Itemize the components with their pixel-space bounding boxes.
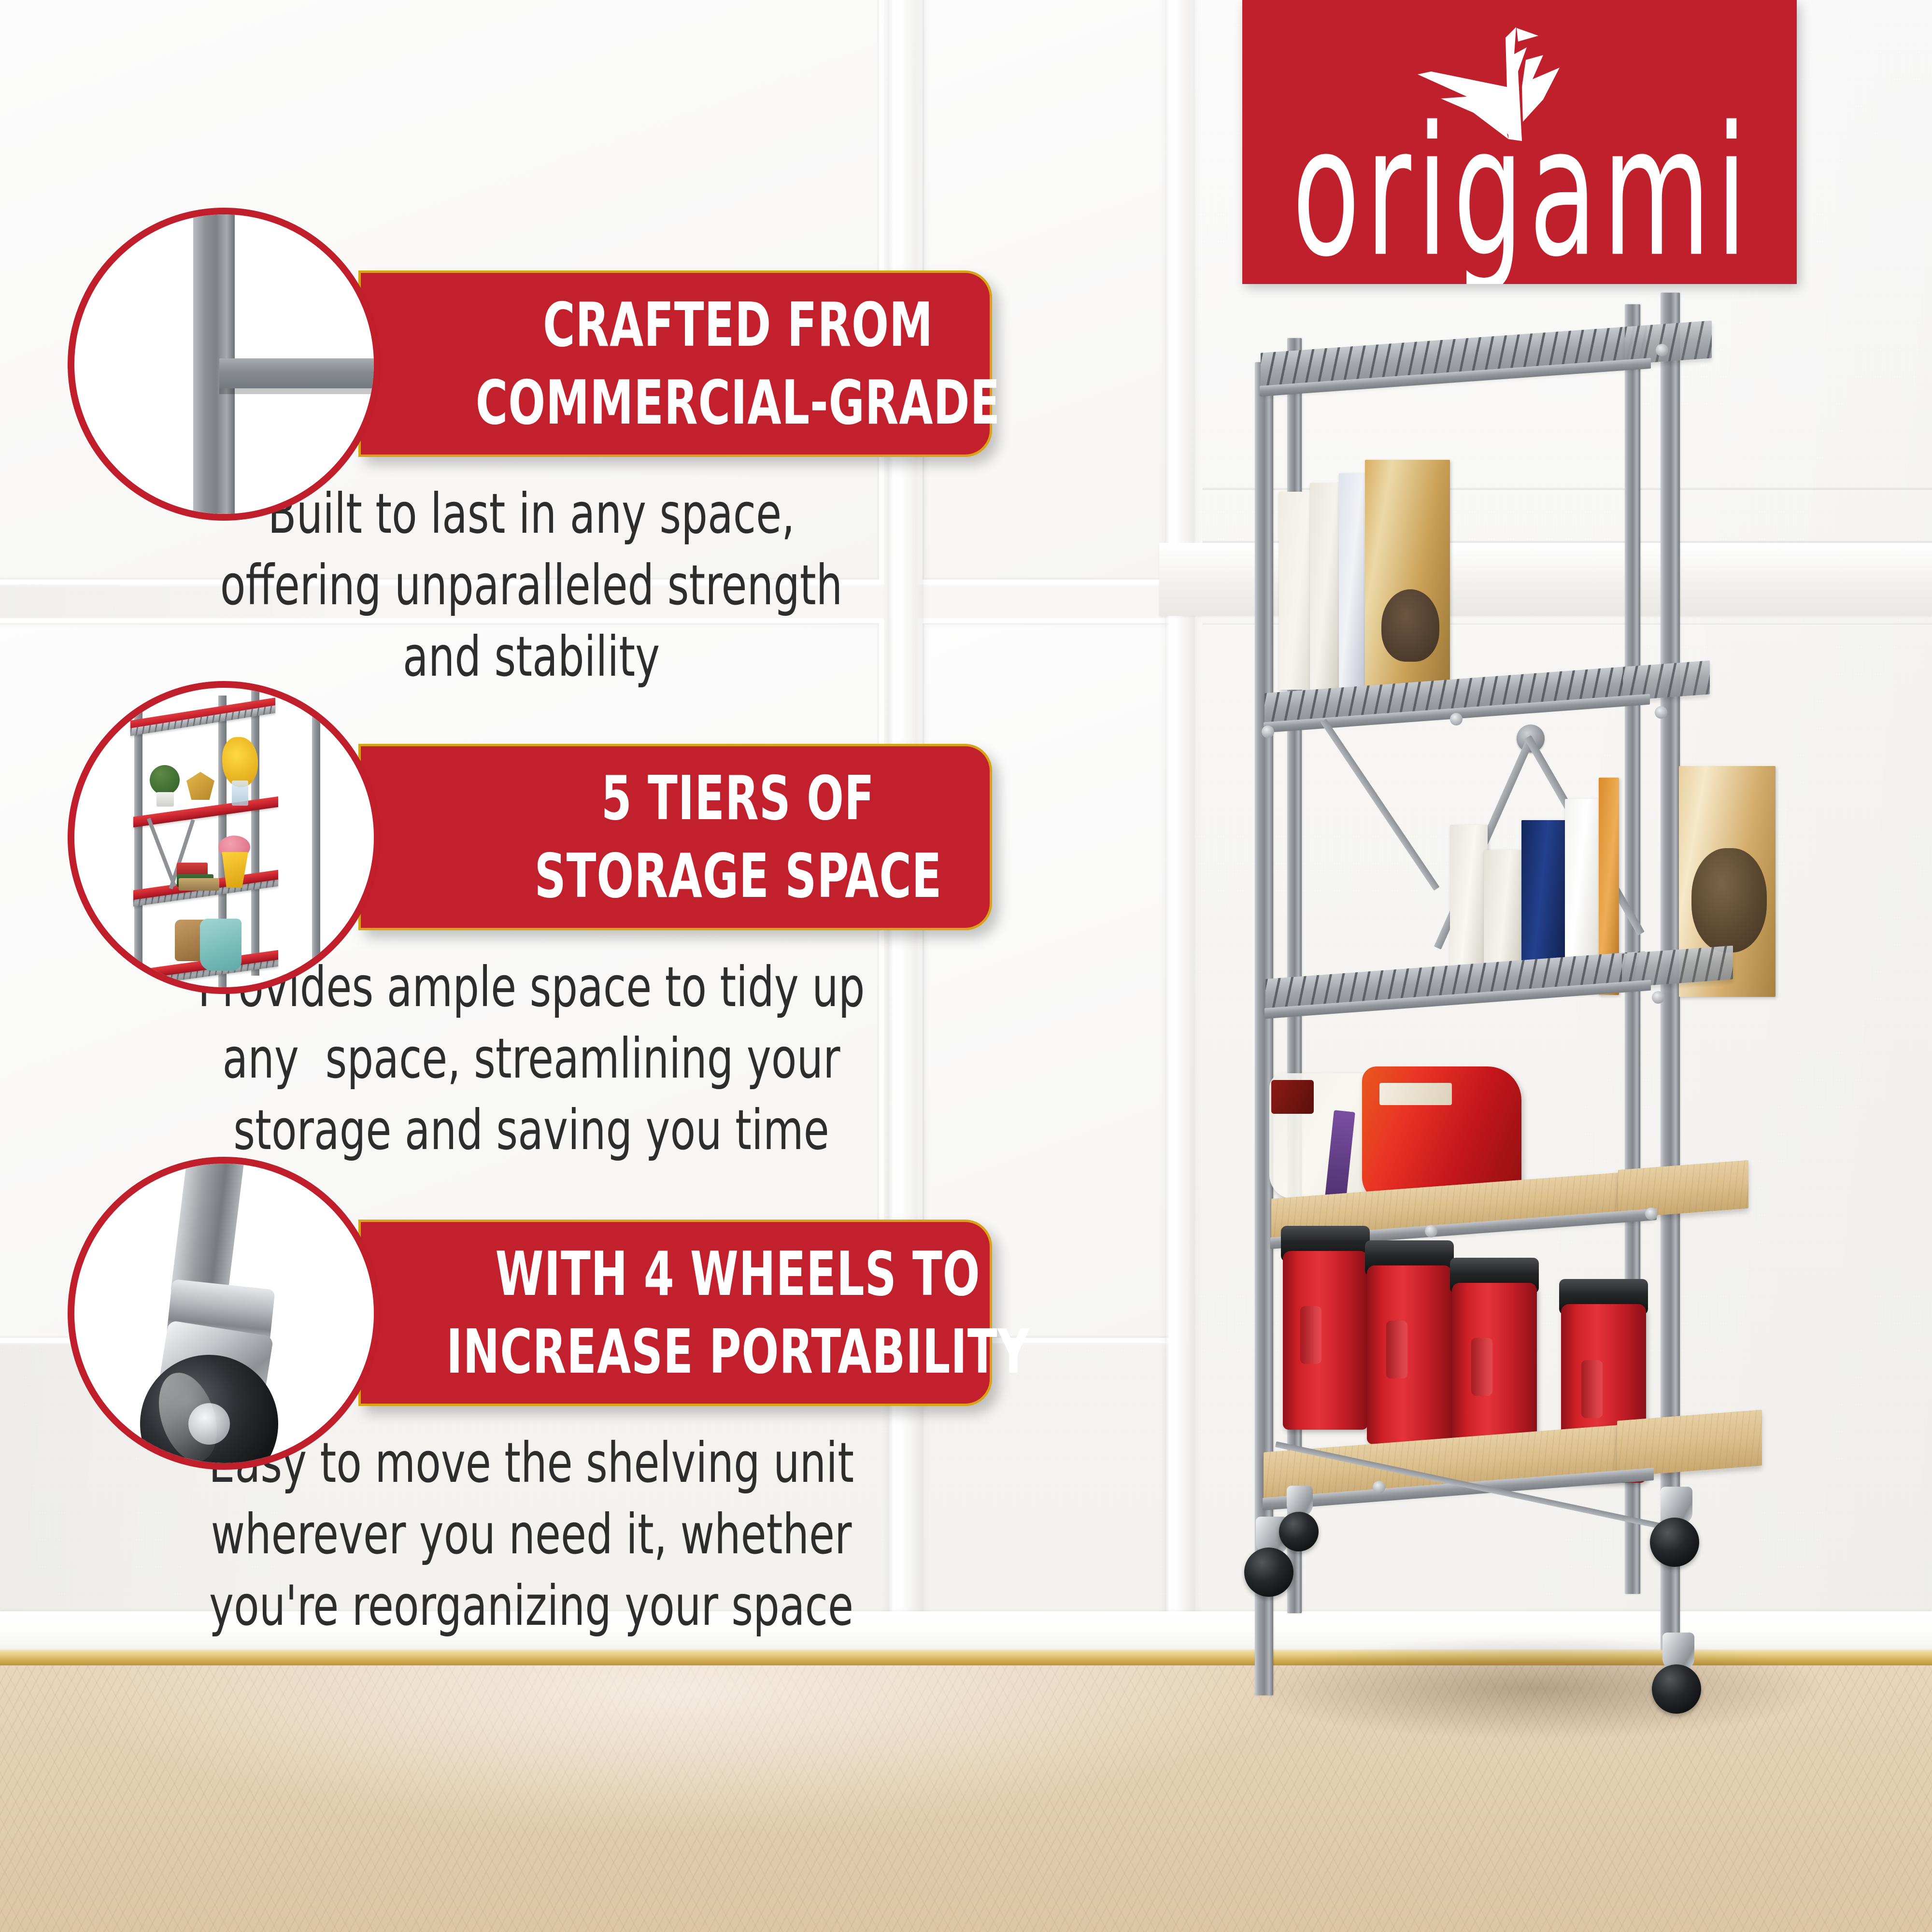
feature-2-headline-line-2: STORAGE SPACE [534,837,942,915]
metal-t-joint-icon [74,214,374,514]
item-red-canister-1 [1283,1251,1368,1430]
item-cereal-box-white-2 [1310,483,1342,690]
item-canister-4-grip [1581,1360,1603,1418]
item-cereal-box-kraft-2-bowl-art [1691,848,1767,952]
item-red-canister-2 [1367,1265,1452,1444]
five-tier-shelf-icon [74,688,374,987]
frame-screw-bottom-mid [1373,1481,1385,1493]
item-cereal-box-blue-pale [1339,473,1369,690]
item-tortilla-bag-label-left [1271,1080,1314,1114]
caster-front-right-wheel [1652,1664,1701,1714]
frame-screw-tier2-left [1262,725,1274,738]
item-canister-3-grip [1471,1338,1492,1396]
folding-brace-back [1321,719,1439,891]
caster-back-right-wheel [1650,1518,1699,1567]
feature-3-headline-line-1: WITH 4 WHEELS TO [496,1235,980,1313]
item-cracker-box-white-1 [1450,825,1488,984]
frame-screw-tier4-mid [1425,1225,1437,1237]
brand-logo: origami [1242,0,1797,284]
feature-1-headline-line-2: COMMERCIAL-GRADE [476,364,1000,441]
feature-2-headline-line-1: 5 TIERS OF [601,759,875,837]
infographic-canvas: origami CRAFTED FROM COMMERCIAL-GRADE Bu… [0,0,1932,1932]
frame-screw-top-right [1656,344,1668,356]
feature-3-body-line-3: you're reorganizing your space [186,1570,876,1642]
feature-3-body-line-2: wherever you need it, whether [186,1499,876,1570]
frame-screw-tier2-right [1655,706,1667,719]
caster-front-left-wheel [1244,1548,1293,1597]
item-cereal-box-white-1 [1279,492,1314,690]
item-cereal-box-kraft-bowl-art [1381,589,1439,662]
feature-2-badge [68,681,381,994]
caster-wheel-icon [74,1164,374,1463]
product-shelving-unit [1092,290,1845,1884]
feature-2-banner: 5 TIERS OF STORAGE SPACE [358,744,992,930]
product-floor-shadow [1251,1637,1821,1739]
logo-wordmark: origami [1292,103,1747,282]
item-canister-1-grip [1300,1306,1321,1364]
feature-1-body-line-3: and stability [186,621,876,693]
feature-3-headline-line-2: INCREASE PORTABILITY [446,1313,1030,1391]
feature-2-body-line-2: any space, streamlining your [186,1023,876,1094]
shelf-top-mesh-right-ext [1625,321,1712,365]
feature-1-body-line-2: offering unparalleled strength [186,550,876,621]
feature-3-badge [68,1157,381,1470]
feature-1-headline-line-1: CRAFTED FROM [543,286,933,364]
frame-screw-tier3-right [1652,991,1664,1004]
folding-brace-pin [1450,713,1463,725]
item-canister-2-grip [1386,1321,1407,1378]
feature-3-banner: WITH 4 WHEELS TO INCREASE PORTABILITY [358,1220,992,1406]
shelf-bottom-wood-right [1617,1409,1762,1477]
caster-back-left-wheel [1279,1512,1319,1551]
item-tortilla-bag-label-cafe-style [1379,1083,1452,1105]
frame-screw-tier4-right [1645,1207,1658,1220]
feature-1-banner: CRAFTED FROM COMMERCIAL-GRADE [358,270,992,457]
feature-2-body-line-3: storage and saving you time [186,1094,876,1166]
feature-1-badge [68,208,381,521]
